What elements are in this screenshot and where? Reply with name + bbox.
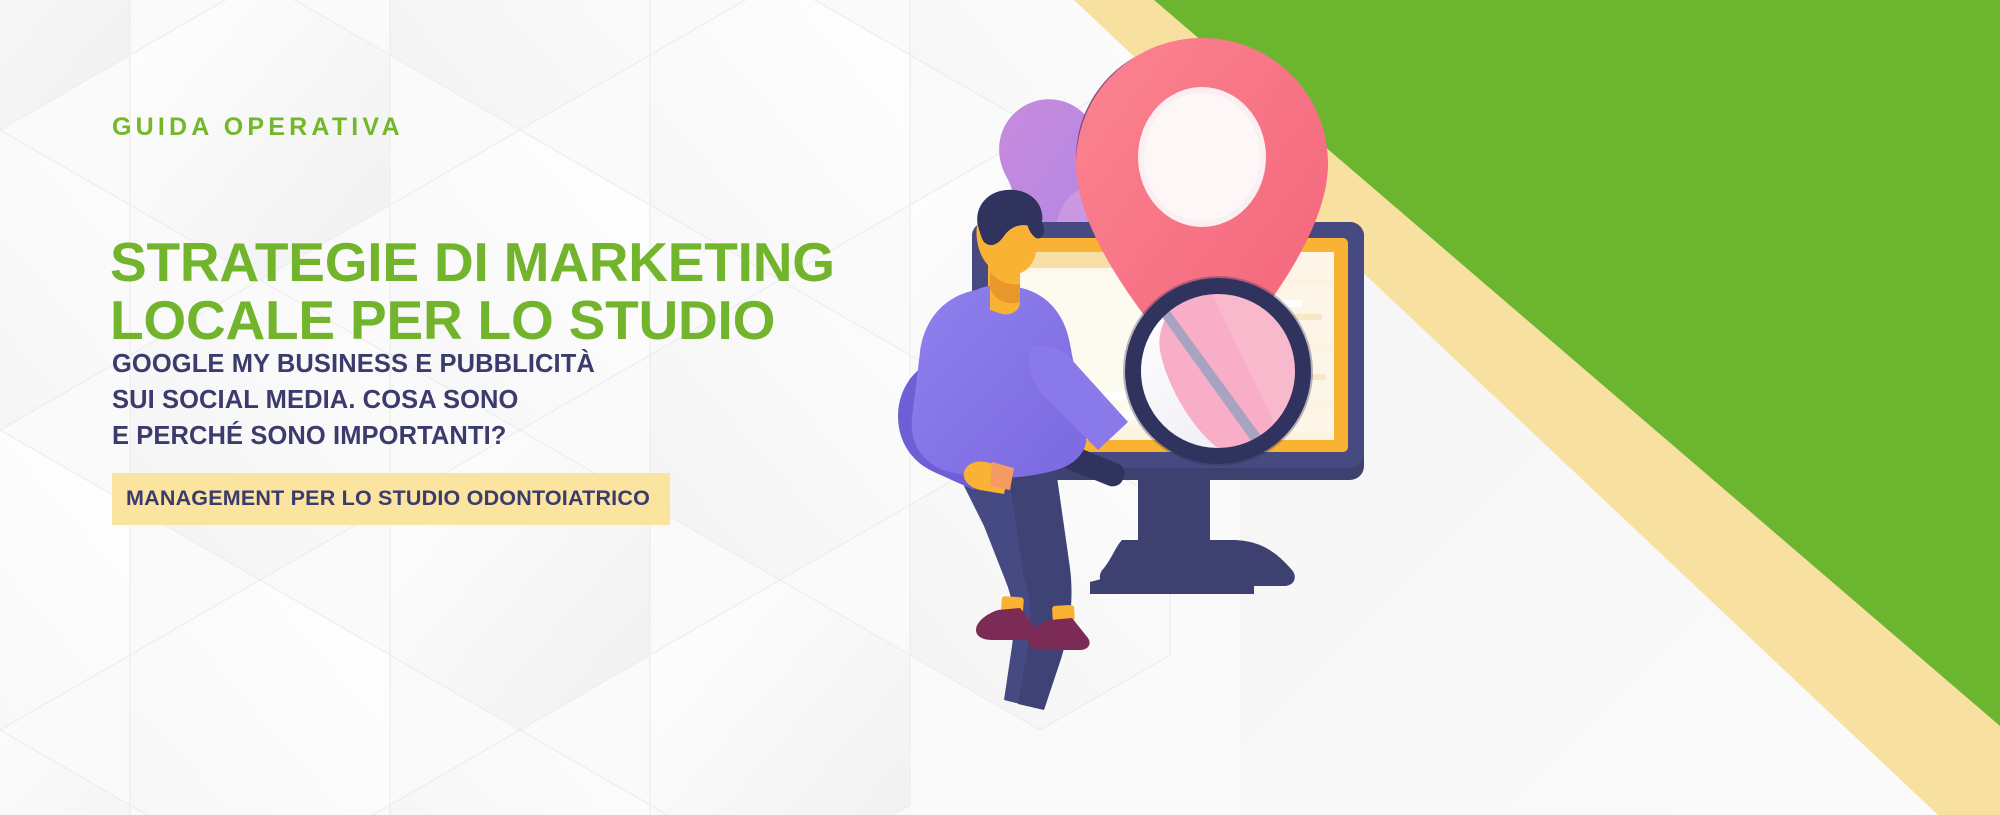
banner-canvas: GUIDA OPERATIVA STRATEGIE DI MARKETING L…: [0, 0, 2000, 815]
category-badge: MANAGEMENT PER LO STUDIO ODONTOIATRICO: [112, 473, 670, 525]
eyebrow-label: GUIDA OPERATIVA: [112, 115, 404, 140]
category-badge-label: MANAGEMENT PER LO STUDIO ODONTOIATRICO: [126, 486, 650, 510]
page-title: STRATEGIE DI MARKETING LOCALE PER LO STU…: [110, 233, 835, 350]
subtitle-text: GOOGLE MY BUSINESS E PUBBLICITÀ SUI SOCI…: [112, 346, 595, 455]
illustration-svg: [880, 0, 1600, 815]
copy-block: GUIDA OPERATIVA STRATEGIE DI MARKETING L…: [112, 0, 892, 815]
local-marketing-illustration: [880, 0, 1600, 815]
